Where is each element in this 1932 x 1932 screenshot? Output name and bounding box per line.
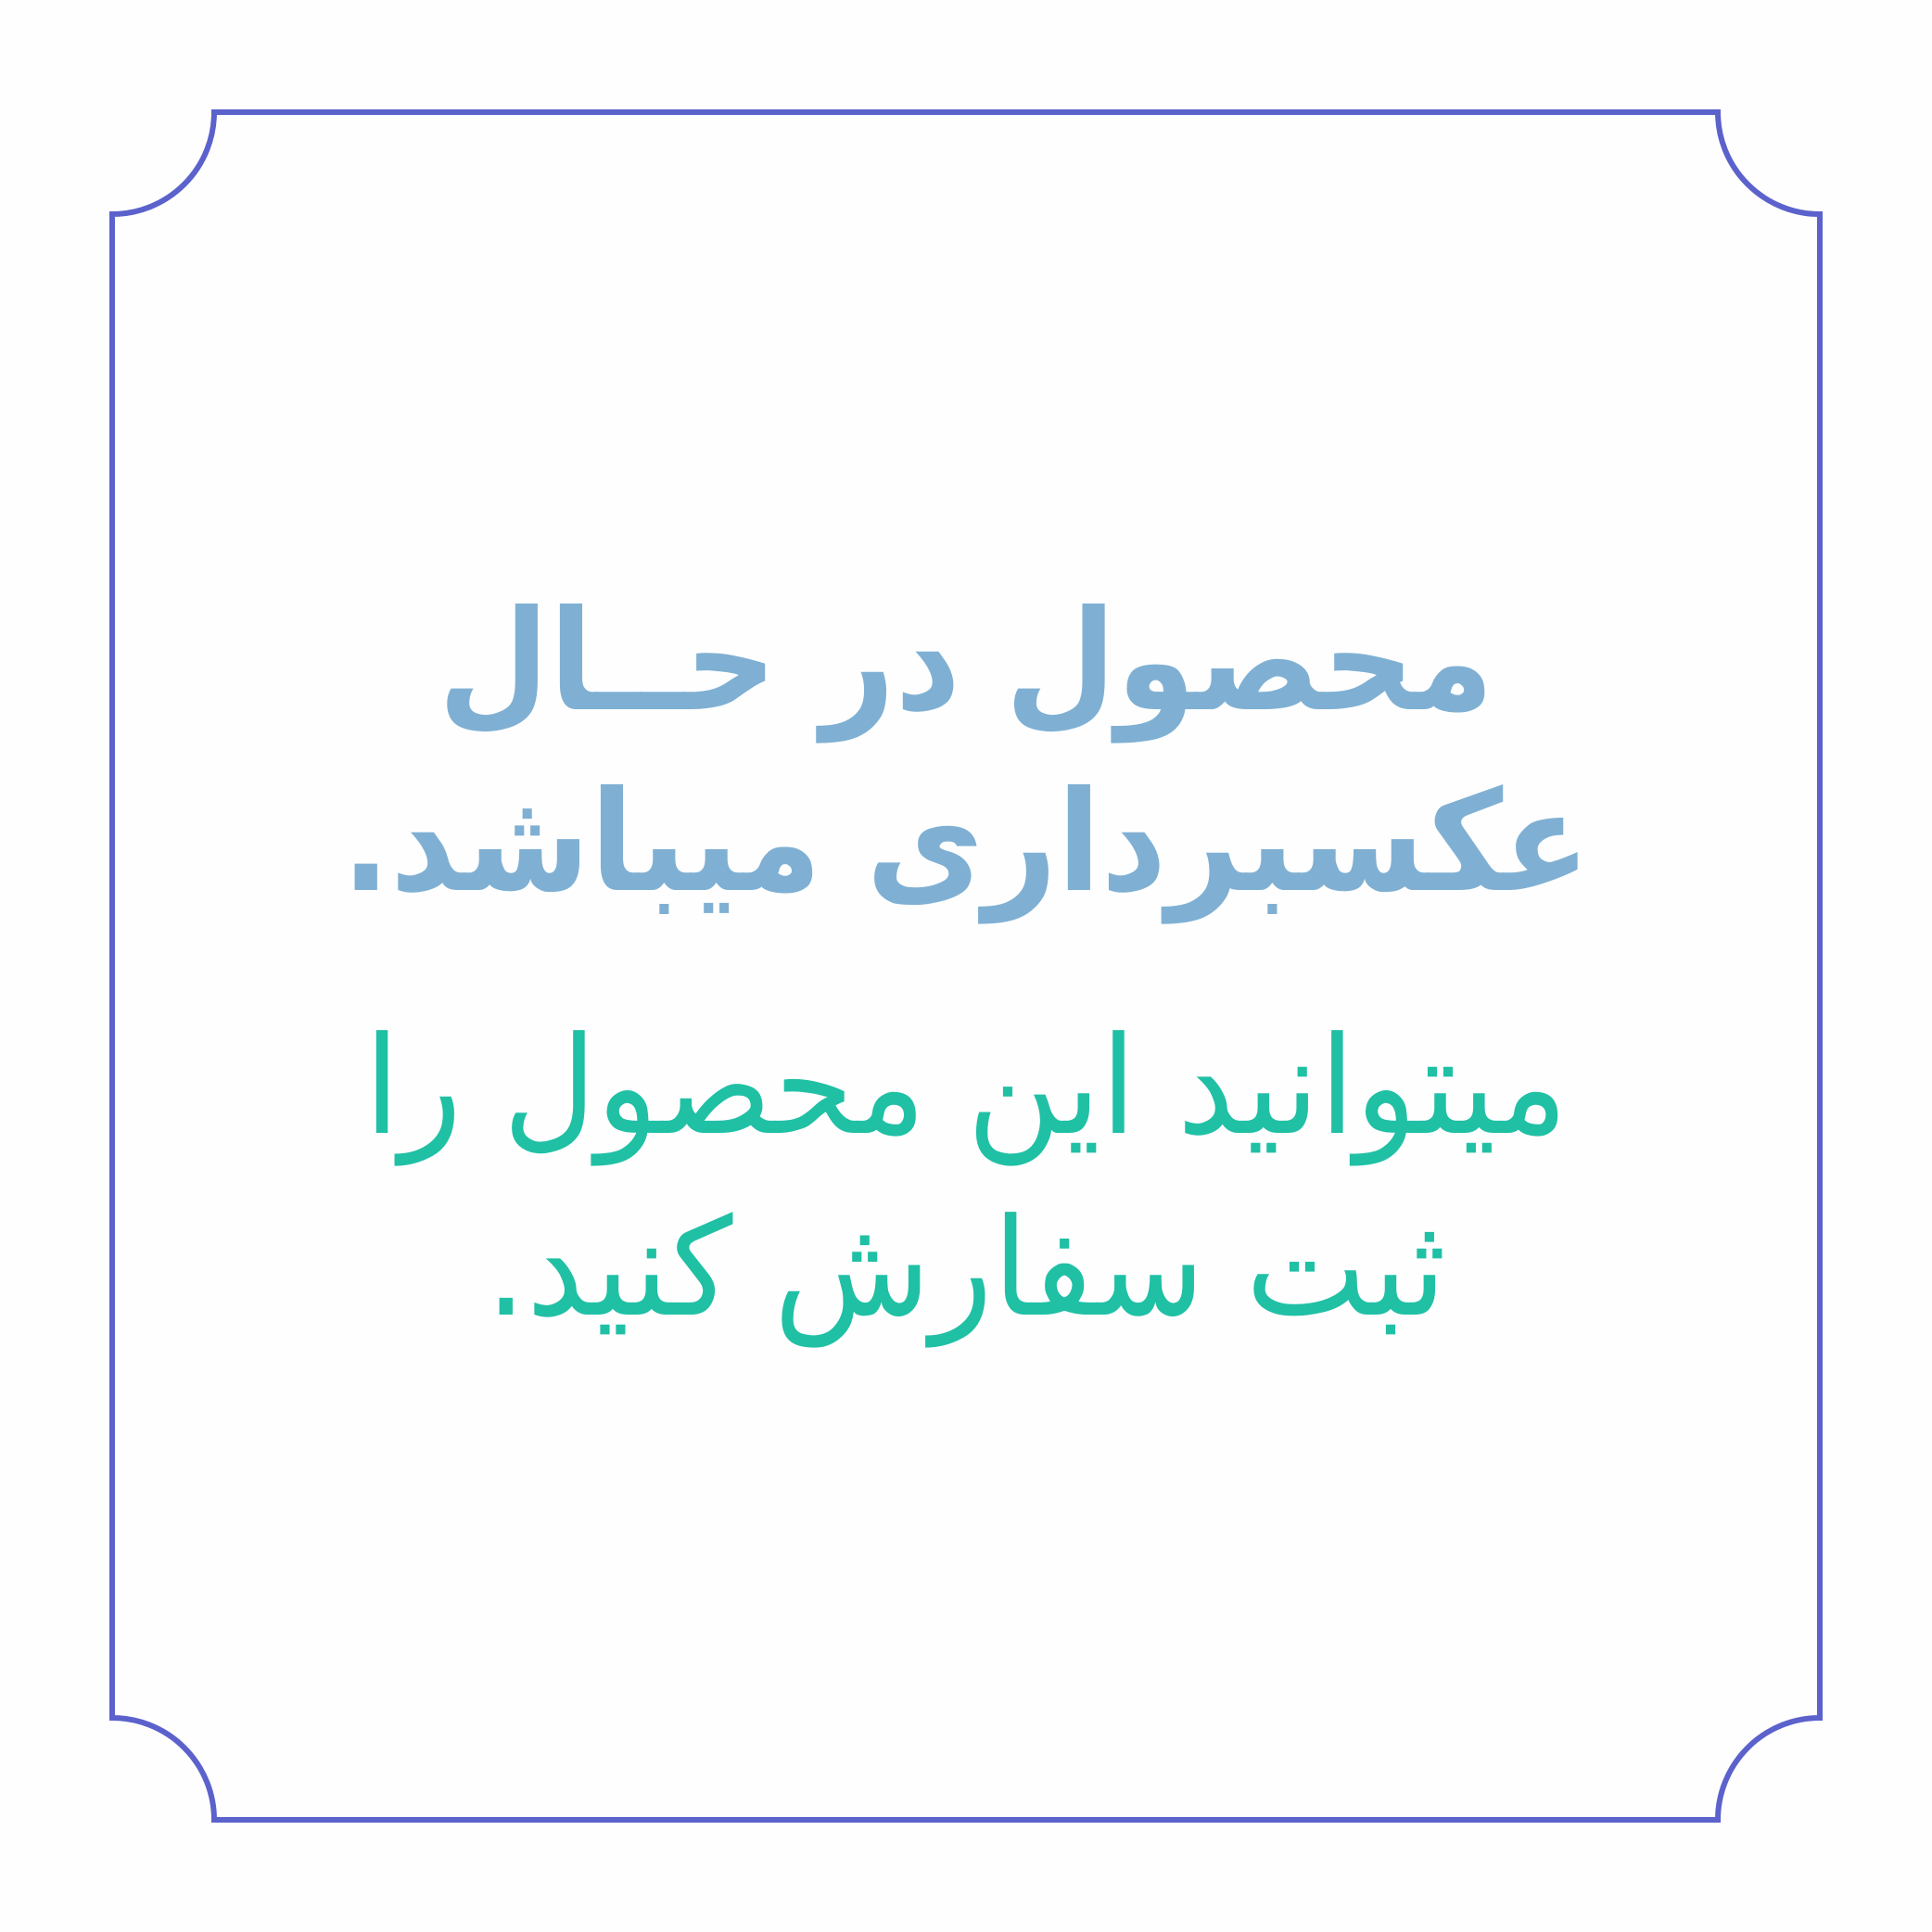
order-invitation-text: میتوانید این محصول را ثبت سفارش کنید.	[306, 997, 1627, 1359]
placeholder-card: محصول در حــال عکسبرداری میباشد. میتوانی…	[0, 0, 1932, 1932]
status-headline: محصول در حــال عکسبرداری میباشد.	[326, 572, 1606, 934]
message-block: محصول در حــال عکسبرداری میباشد. میتوانی…	[115, 115, 1817, 1817]
